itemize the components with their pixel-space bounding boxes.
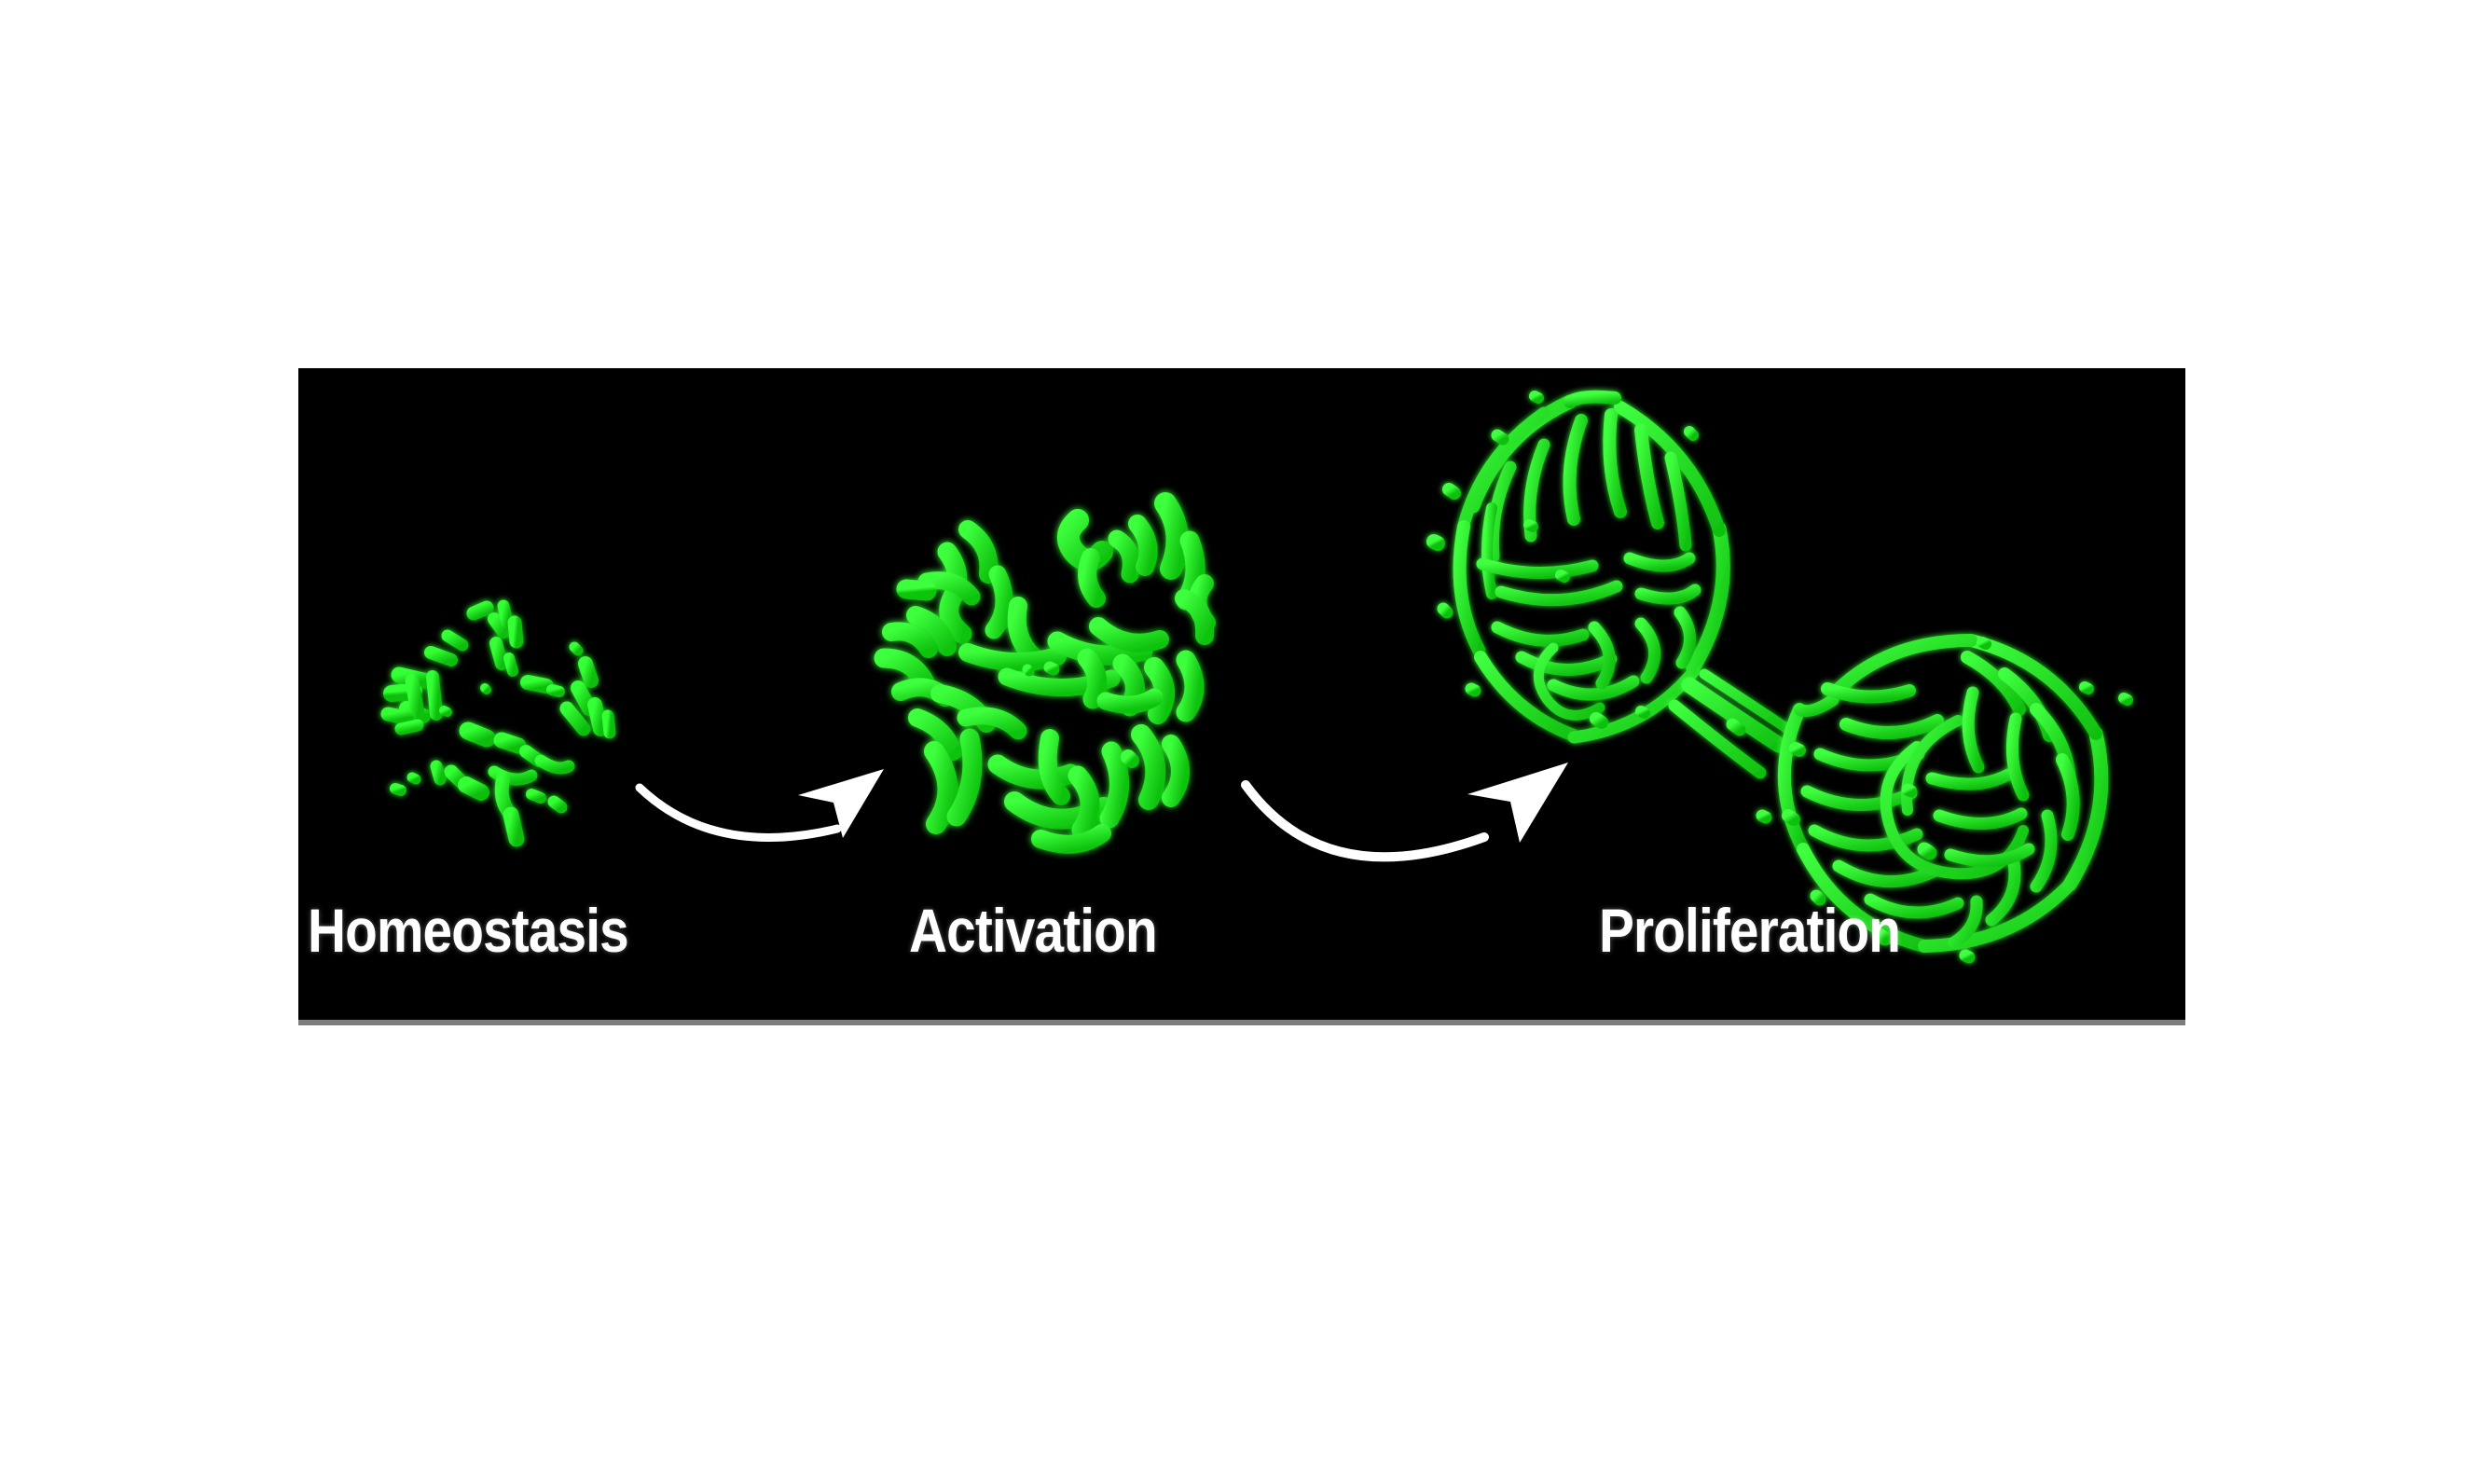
stage-label-activation: Activation <box>909 900 1157 961</box>
daughter-cell-upper-left <box>1434 396 1723 737</box>
cell-image-activation <box>858 485 1249 876</box>
arrow-homeostasis-to-activation <box>634 741 914 872</box>
stage-label-proliferation: Proliferation <box>1599 900 1900 961</box>
panel-bottom-border <box>298 1020 2185 1025</box>
figure-panel: Homeostasis Activation Proliferation <box>298 368 2185 1020</box>
cell-image-homeostasis <box>354 578 662 876</box>
arrow-activation-to-proliferation <box>1240 746 1604 909</box>
cytoplasmic-bridge <box>1674 674 1786 773</box>
stage-label-homeostasis: Homeostasis <box>308 900 628 961</box>
